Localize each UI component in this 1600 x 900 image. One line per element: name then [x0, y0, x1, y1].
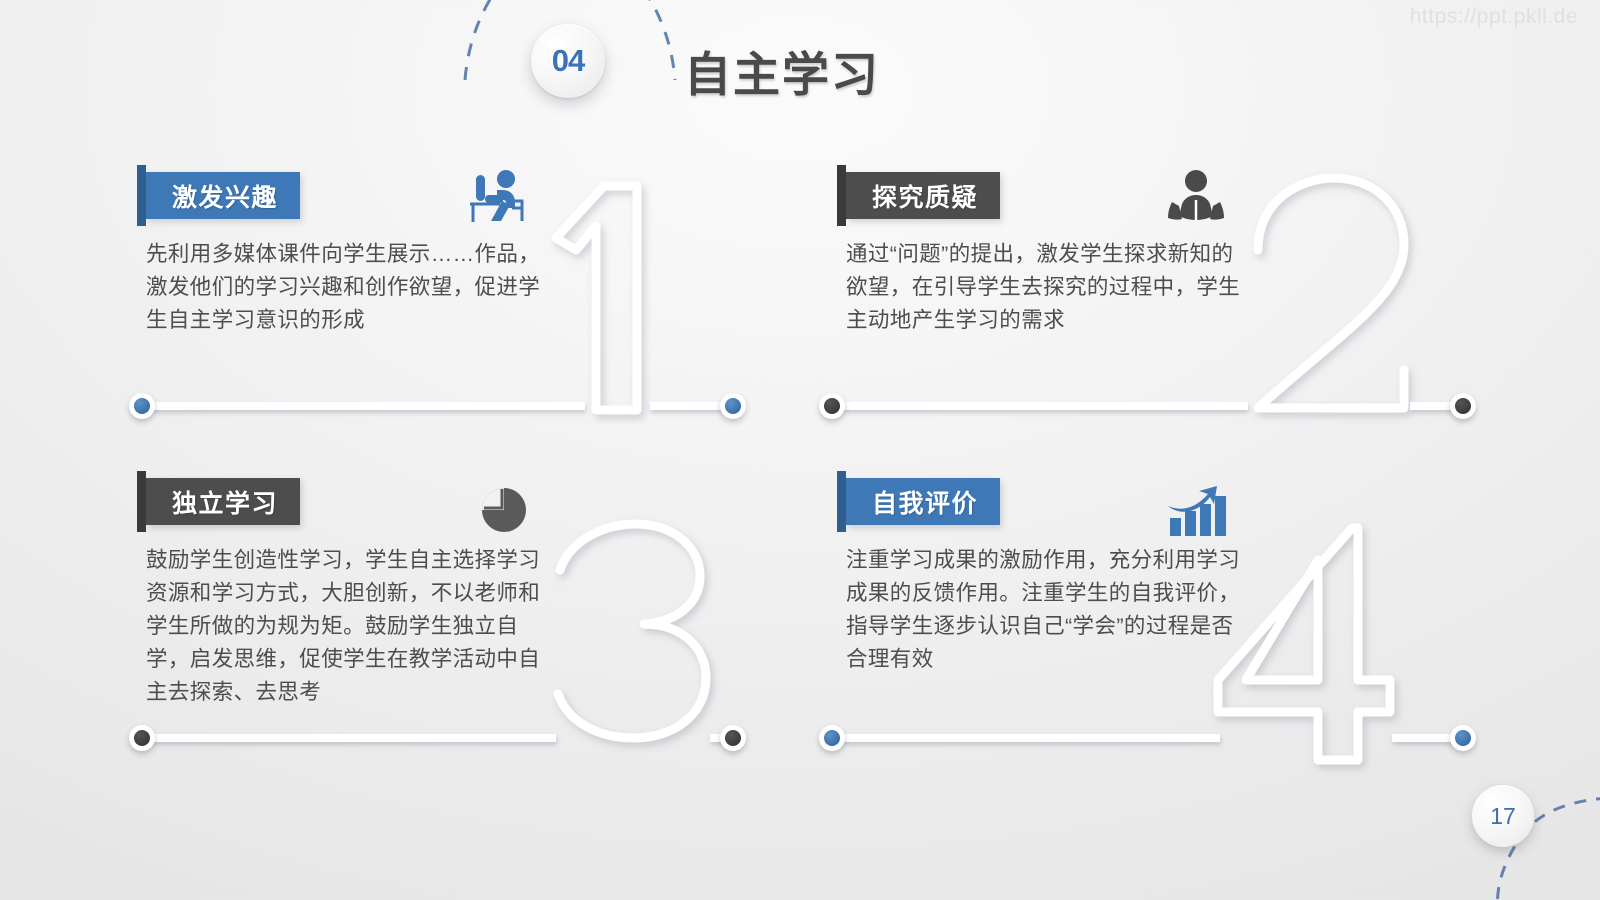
card-探究质疑[interactable]: 探究质疑 通过“问题”的提出，激发学生探求新知的欲望，在引导学生去探究的过程中，…	[846, 172, 1246, 337]
ribbon-tail	[837, 165, 846, 226]
card-header: 探究质疑	[846, 172, 1246, 224]
card-title-label: 自我评价	[872, 484, 978, 520]
slide-canvas: https://ppt.pkll.de 04 自主学习	[0, 0, 1600, 900]
bar-chart-growth-icon	[1164, 478, 1230, 543]
card-header: 激发兴趣	[146, 172, 546, 224]
card-title-ribbon: 激发兴趣	[146, 172, 300, 219]
card-自我评价[interactable]: 自我评价 注重学习成果的激励作用，充分利用学习成果的反馈作用。注重学生的自我评价…	[846, 478, 1246, 676]
section-number-label: 04	[552, 43, 584, 79]
card-body-text: 注重学习成果的激励作用，充分利用学习成果的反馈作用。注重学生的自我评价，指导学生…	[846, 544, 1246, 676]
card-title-ribbon: 探究质疑	[846, 172, 1000, 219]
rail-dot-row1-mid-right	[819, 393, 845, 419]
rail-dot-row1-right	[1450, 393, 1476, 419]
card-title-label: 探究质疑	[872, 178, 978, 214]
card-title-ribbon: 自我评价	[846, 478, 1000, 525]
person-reading-book-icon	[1164, 168, 1228, 231]
card-独立学习[interactable]: 独立学习 鼓励学生创造性学习，学生自主选择学习资源和学习方式，大胆创新，不以老师…	[146, 478, 546, 709]
card-header: 自我评价	[846, 478, 1246, 530]
rail-dot-row1-mid-left	[720, 393, 746, 419]
card-title-label: 独立学习	[172, 484, 278, 520]
ribbon-tail	[137, 165, 146, 226]
card-header: 独立学习	[146, 478, 546, 530]
card-title-ribbon: 独立学习	[146, 478, 300, 525]
rail-dot-row2-right	[1450, 725, 1476, 751]
rail-dot-row2-left	[129, 725, 155, 751]
ribbon-tail	[137, 471, 146, 532]
rail-dot-row2-mid-left	[720, 725, 746, 751]
pie-chart-icon	[476, 480, 532, 541]
card-body-text: 通过“问题”的提出，激发学生探求新知的欲望，在引导学生去探究的过程中，学生主动地…	[846, 238, 1246, 337]
ribbon-tail	[837, 471, 846, 532]
person-at-desk-icon	[464, 168, 528, 231]
card-body-text: 鼓励学生创造性学习，学生自主选择学习资源和学习方式，大胆创新，不以老师和学生所做…	[146, 544, 546, 709]
card-title-label: 激发兴趣	[172, 178, 278, 214]
page-number-badge: 17	[1472, 785, 1534, 847]
card-激发兴趣[interactable]: 激发兴趣 先利用多媒体课件向学生展	[146, 172, 546, 337]
connector-rails	[0, 0, 1600, 900]
page-number-label: 17	[1490, 803, 1516, 830]
card-body-text: 先利用多媒体课件向学生展示……作品，激发他们的学习兴趣和创作欲望，促进学生自主学…	[146, 238, 546, 337]
section-number-badge: 04	[531, 24, 605, 98]
rail-dot-row1-left	[129, 393, 155, 419]
rail-dot-row2-mid-right	[819, 725, 845, 751]
